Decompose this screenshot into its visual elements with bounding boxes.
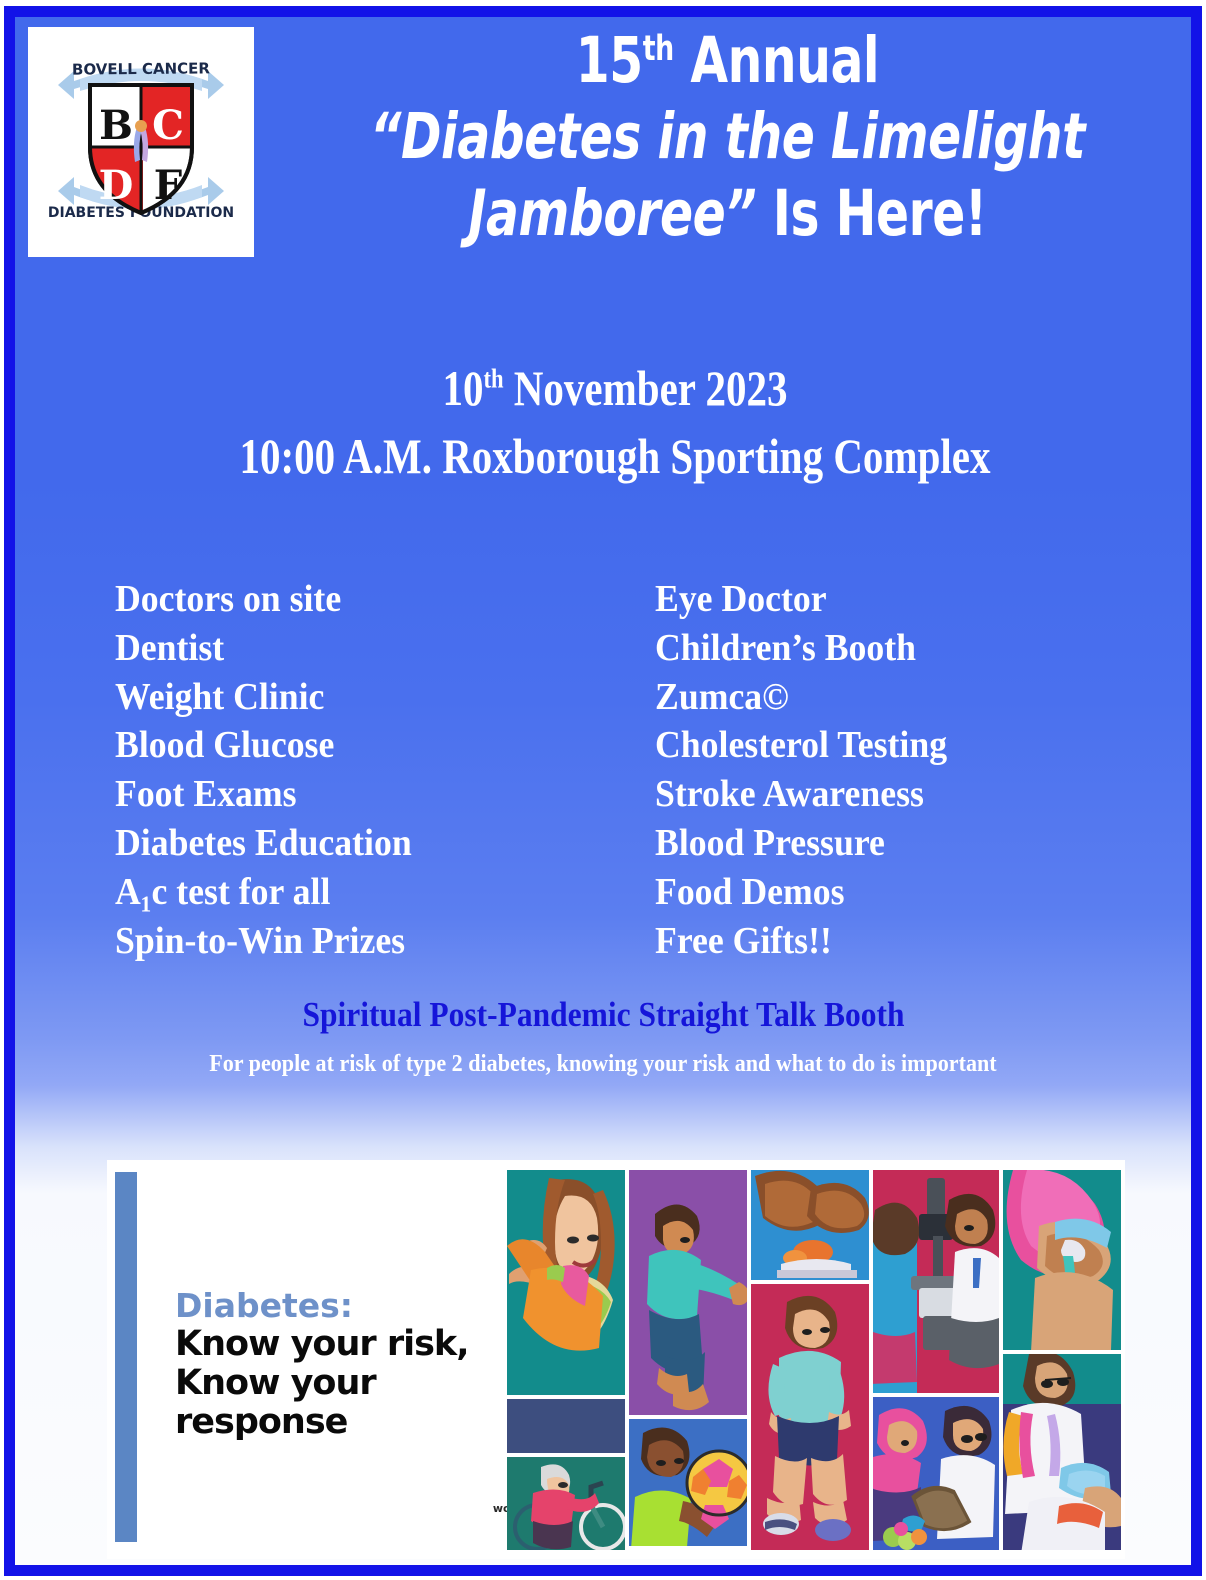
service-item: Dentist (115, 624, 623, 673)
collage-column-5 (1003, 1170, 1121, 1550)
title-line-annual: 15th Annual (330, 29, 1126, 93)
panel-eye-examination (873, 1170, 999, 1393)
service-item: Children’s Booth (655, 624, 1087, 673)
service-item: Blood Pressure (655, 819, 1087, 868)
event-details: 10th November 2023 10:00 A.M. Roxborough… (75, 357, 1155, 487)
service-item: Doctors on site (115, 575, 623, 624)
panel-insulin-injection-closeup (1003, 1170, 1121, 1350)
healthcare-worker-illustration (1003, 1354, 1121, 1550)
panel-woman-with-salad-bowl (507, 1170, 625, 1395)
services-list: Doctors on site Dentist Weight Clinic Bl… (15, 575, 1191, 966)
panel-nutrition-consultation (873, 1397, 999, 1550)
logo-top-banner-text: BOVELL CANCER (72, 59, 211, 78)
booth-highlight: Spiritual Post-Pandemic Straight Talk Bo… (15, 995, 1191, 1035)
title-event-suffix: Is Here! (756, 177, 986, 250)
logo-letter-d: D (99, 162, 134, 209)
title-ordinal-suffix: th (643, 29, 674, 69)
woman-with-salad-illustration (507, 1170, 625, 1395)
service-item: Eye Doctor (655, 575, 1087, 624)
service-item: Foot Exams (115, 770, 623, 819)
banner-heading-line1: Know your risk, (175, 1325, 505, 1364)
service-item: Spin-to-Win Prizes (115, 917, 623, 966)
bcdf-crest-icon: BOVELL CANCER DIABETES FOUNDATION B (28, 27, 254, 257)
title-event-part2: Jamboree” (468, 177, 756, 250)
eye-exam-illustration (873, 1170, 999, 1393)
collage-column-4 (873, 1170, 999, 1550)
runner-illustration (751, 1284, 869, 1550)
consultation-illustration (873, 1397, 999, 1550)
service-item: Food Demos (655, 868, 1087, 917)
world-diabetes-day-banner: Diabetes: Know your risk, Know your resp… (107, 1160, 1125, 1559)
service-item: A₁c test for all (115, 868, 623, 917)
collage-column-2 (629, 1170, 747, 1550)
illustration-collage (507, 1170, 1119, 1550)
service-item: Stroke Awareness (655, 770, 1087, 819)
service-item: Blood Glucose (115, 721, 623, 770)
logo-letter-f: F (154, 162, 182, 209)
event-time-venue: 10:00 A.M. Roxborough Sporting Complex (172, 425, 1058, 487)
banner-heading: Diabetes: Know your risk, Know your resp… (175, 1288, 505, 1443)
banner-heading-line2: Know your response (175, 1364, 505, 1442)
panel-healthcare-worker-gloves (1003, 1354, 1121, 1550)
service-item: Cholesterol Testing (655, 721, 1087, 770)
banner-accent-bar (115, 1172, 137, 1542)
service-item: Free Gifts!! (655, 917, 1087, 966)
cyclist-illustration (507, 1457, 625, 1550)
panel-spacer-blue (507, 1399, 625, 1453)
event-date-ordinal: th (484, 362, 504, 393)
organization-logo: BOVELL CANCER DIABETES FOUNDATION B (28, 27, 254, 257)
hands-food-illustration (751, 1170, 869, 1280)
poster-root: BOVELL CANCER DIABETES FOUNDATION B (0, 0, 1206, 1580)
risk-tagline: For people at risk of type 2 diabetes, k… (15, 1051, 1191, 1078)
services-column-right: Eye Doctor Children’s Booth Zumca© Chole… (655, 575, 1115, 966)
service-item: Weight Clinic (115, 673, 623, 722)
injection-illustration (1003, 1170, 1121, 1350)
poster-title: 15th Annual “Diabetes in the Limelight J… (265, 29, 1190, 253)
panel-woman-running (751, 1284, 869, 1550)
collage-column-1 (507, 1170, 625, 1550)
panel-boy-holding-football (629, 1419, 747, 1546)
logo-letter-b: B (99, 102, 133, 149)
exercise-illustration (629, 1170, 747, 1415)
banner-heading-label: Diabetes: (175, 1288, 505, 1325)
football-boy-illustration (629, 1419, 747, 1546)
service-item: Zumca© (655, 673, 1087, 722)
services-column-left: Doctors on site Dentist Weight Clinic Bl… (115, 575, 655, 966)
collage-column-3 (751, 1170, 869, 1550)
logo-letter-c: C (152, 102, 184, 149)
poster-frame: BOVELL CANCER DIABETES FOUNDATION B (4, 6, 1202, 1576)
title-event-part1: “Diabetes in the Limelight (370, 100, 1085, 173)
panel-older-person-cycling (507, 1457, 625, 1550)
panel-person-stretching-exercise (629, 1170, 747, 1415)
panel-hands-preparing-food (751, 1170, 869, 1280)
title-line-event-name: “Diabetes in the Limelight Jamboree” Is … (330, 99, 1126, 253)
event-date: 10th November 2023 (172, 357, 1058, 419)
service-item: Diabetes Education (115, 819, 623, 868)
